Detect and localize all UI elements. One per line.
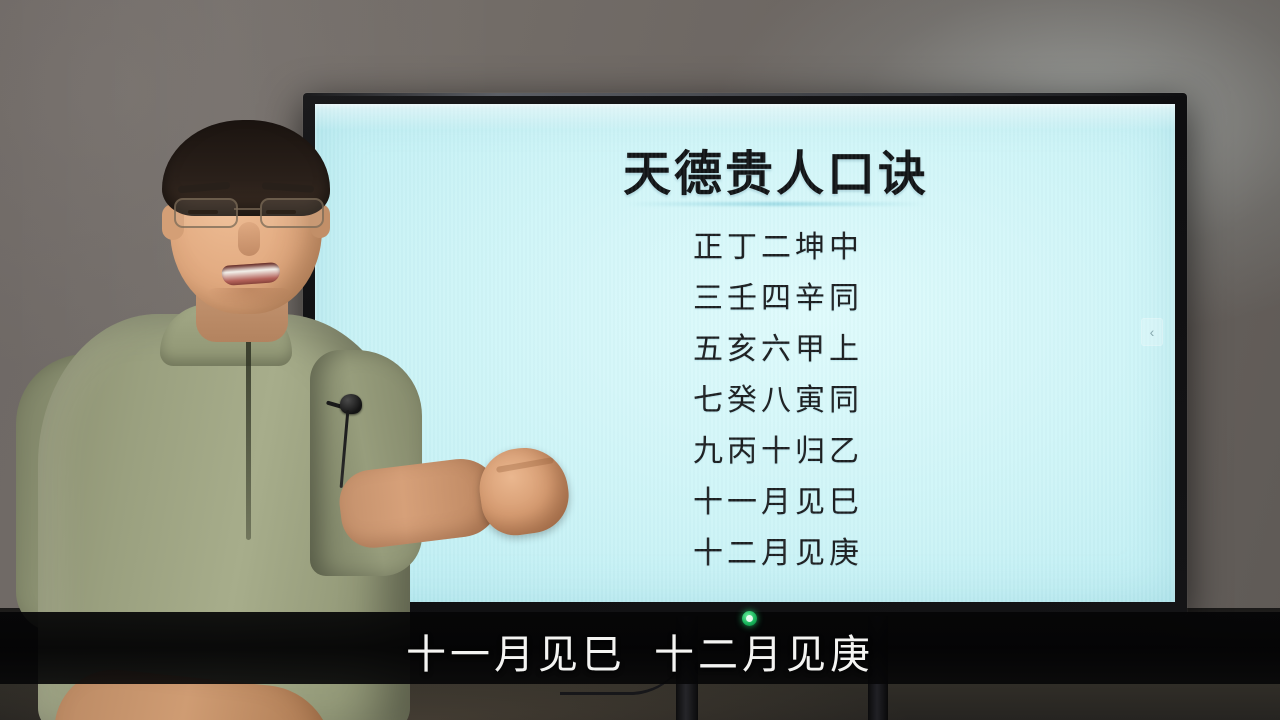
chin-shadow <box>206 288 292 308</box>
slide-line: 五亥六甲上 <box>381 324 1175 375</box>
title-underline-glow <box>626 202 926 206</box>
bezel-highlight <box>303 93 1187 96</box>
slide-line: 三壬四辛同 <box>381 273 1175 324</box>
slide-line: 正丁二坤中 <box>381 222 1175 273</box>
video-frame: 天德贵人口诀 正丁二坤中 三壬四辛同 五亥六甲上 七癸八寅同 九丙十归乙 十一月… <box>0 0 1280 720</box>
glasses-bridge <box>234 208 260 210</box>
eye-left <box>188 210 218 214</box>
chevron-left-icon[interactable]: ‹ <box>1141 318 1163 346</box>
slide-line: 七癸八寅同 <box>381 375 1175 426</box>
lapel-microphone-icon <box>340 394 362 414</box>
subtitle-text: 十一月见巳 十二月见庚 <box>0 622 1280 680</box>
slide-line: 十二月见庚 <box>381 528 1175 579</box>
eye-right <box>266 210 296 214</box>
nose <box>238 222 260 256</box>
shirt-placket <box>246 330 251 540</box>
logo-inner-dot <box>746 615 753 622</box>
